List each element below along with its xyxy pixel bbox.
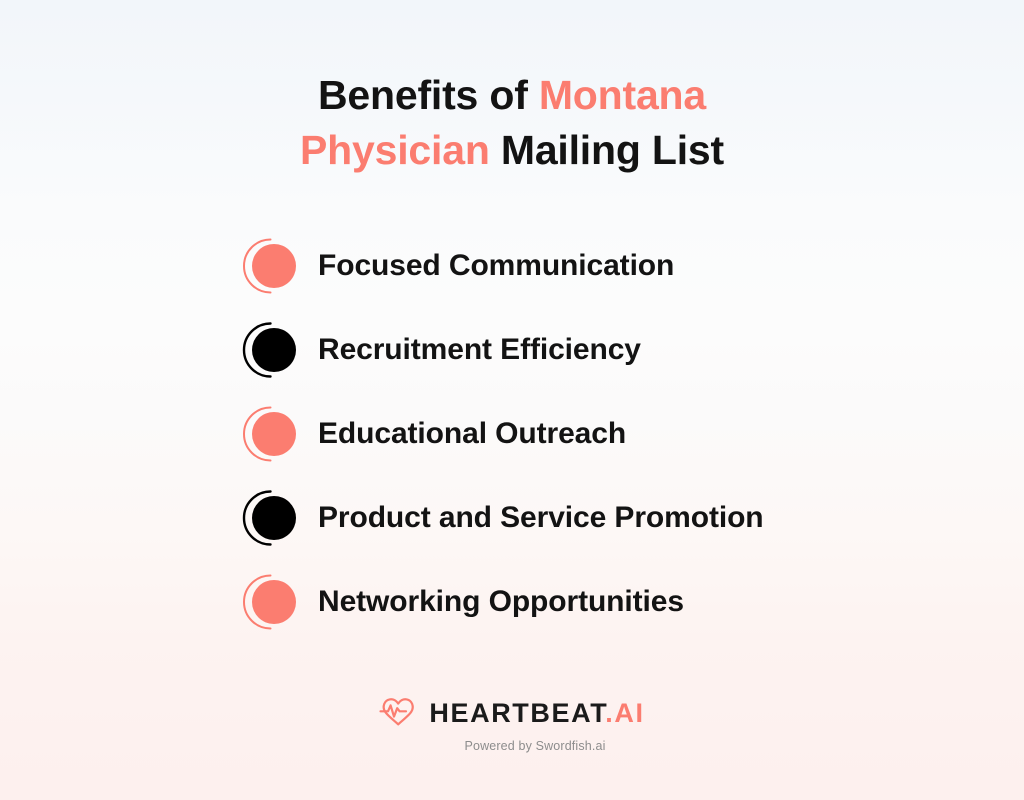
footer-branding: HEARTBEAT.AI Powered by Swordfish.ai xyxy=(0,694,1024,753)
benefits-list: Focused Communication Recruitment Effici… xyxy=(0,230,1024,638)
list-item: Recruitment Efficiency xyxy=(236,314,641,386)
bullet-circle-black-icon xyxy=(236,314,308,386)
brand-name-main: HEARTBEAT xyxy=(429,698,605,728)
list-item: Networking Opportunities xyxy=(236,566,684,638)
list-item-label: Recruitment Efficiency xyxy=(318,333,641,367)
list-item-label: Networking Opportunities xyxy=(318,585,684,619)
page-title: Benefits of Montana Physician Mailing Li… xyxy=(0,68,1024,178)
brand-name-suffix: .AI xyxy=(605,698,644,728)
title-text-accent-1: Montana xyxy=(539,72,706,118)
list-item: Product and Service Promotion xyxy=(236,482,764,554)
infographic-poster: Benefits of Montana Physician Mailing Li… xyxy=(0,0,1024,800)
title-line-1: Benefits of Montana xyxy=(60,68,964,123)
list-item: Focused Communication xyxy=(236,230,674,302)
title-line-2: Physician Mailing List xyxy=(60,123,964,178)
list-item-label: Product and Service Promotion xyxy=(318,501,764,535)
bullet-circle-coral-icon xyxy=(236,230,308,302)
list-item-label: Educational Outreach xyxy=(318,417,626,451)
title-text-plain-2: Mailing List xyxy=(490,127,724,173)
bullet-circle-black-icon xyxy=(236,482,308,554)
list-item-label: Focused Communication xyxy=(318,249,674,283)
brand-tagline: Powered by Swordfish.ai xyxy=(464,740,605,753)
brand-wordmark: HEARTBEAT.AI xyxy=(429,700,644,727)
bullet-circle-coral-icon xyxy=(236,566,308,638)
heartbeat-pulse-icon xyxy=(379,694,417,733)
title-text-plain-1: Benefits of xyxy=(318,72,539,118)
logo-lockup: HEARTBEAT.AI xyxy=(379,694,644,733)
bullet-circle-coral-icon xyxy=(236,398,308,470)
list-item: Educational Outreach xyxy=(236,398,626,470)
title-text-accent-2: Physician xyxy=(300,127,490,173)
